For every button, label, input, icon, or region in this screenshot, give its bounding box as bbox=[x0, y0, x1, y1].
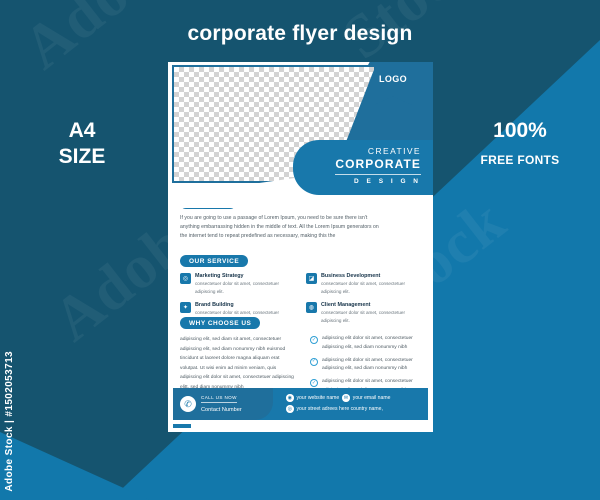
hero-line-corporate: CORPORATE bbox=[293, 157, 421, 171]
phone-icon: ✆ bbox=[180, 396, 196, 412]
hero-line-design: D E S I G N bbox=[293, 178, 421, 185]
chart-up-icon: ◪ bbox=[306, 273, 317, 284]
section-tag-our-service: OUR SERVICE bbox=[180, 255, 248, 267]
service-description: consectetuer dolor sit amet, consectetue… bbox=[321, 280, 422, 295]
service-title: Marketing Strategy bbox=[195, 273, 296, 279]
check-circle-icon: ✓ bbox=[310, 379, 318, 387]
contact-number-label: Contact Number bbox=[201, 407, 242, 413]
paper-size-label: SIZE bbox=[22, 144, 142, 170]
hero-divider-rule bbox=[335, 174, 421, 175]
service-title: Brand Building bbox=[195, 302, 296, 308]
flyer-artboard: LOGO CREATIVE CORPORATE D E S I G N ABOU… bbox=[168, 62, 433, 432]
list-item: ✓ adipiscing elit dolor sit amet, consec… bbox=[310, 335, 422, 352]
list-item: ✓ adipiscing elit dolor sit amet, consec… bbox=[310, 357, 422, 374]
envelope-icon: ✉ bbox=[342, 394, 350, 402]
footer-row: ◉ your website name ✉ your email name bbox=[286, 394, 422, 402]
why-checklist-text: adipiscing elit dolor sit amet, consecte… bbox=[322, 357, 422, 374]
check-circle-icon: ✓ bbox=[310, 336, 318, 344]
hero-title-pill: CREATIVE CORPORATE D E S I G N bbox=[293, 140, 433, 195]
target-icon: ◎ bbox=[180, 273, 191, 284]
logo-label: LOGO bbox=[379, 74, 407, 84]
section-tag-why-choose-us: WHY CHOOSE US bbox=[180, 317, 260, 329]
flyer-footer: ✆ CALL US NOW Contact Number ◉ your webs… bbox=[168, 388, 433, 432]
address-text: your street adrees here country name, bbox=[297, 406, 383, 412]
why-checklist-text: adipiscing elit dolor sit amet, consecte… bbox=[322, 335, 422, 352]
globe-icon: ◉ bbox=[286, 394, 294, 402]
screenshot-canvas: Adobe Stock Adobe Stock Adobe corporate … bbox=[0, 0, 600, 500]
check-circle-icon: ✓ bbox=[310, 358, 318, 366]
about-us-paragraph: If you are going to use a passage of Lor… bbox=[180, 214, 380, 241]
paper-size-value: A4 bbox=[22, 118, 142, 144]
hero-line-creative: CREATIVE bbox=[293, 146, 421, 156]
service-title: Client Management bbox=[321, 302, 422, 308]
footer-contact-details: ◉ your website name ✉ your email name ◎ … bbox=[286, 394, 422, 416]
why-paragraph: adipiscing elit, sed diam sit amet, cons… bbox=[180, 335, 298, 392]
service-description: consectetuer dolor sit amet, consectetue… bbox=[195, 280, 296, 295]
free-fonts-label: FREE FONTS bbox=[452, 153, 588, 167]
footer-row: ◎ your street adrees here country name, bbox=[286, 405, 422, 413]
service-item: ◪ Business Development consectetuer dolo… bbox=[306, 273, 422, 295]
caption-paper-size: A4 SIZE bbox=[22, 118, 142, 171]
footer-stripe bbox=[173, 424, 428, 428]
stock-id-label: Adobe Stock | #1502053713 bbox=[4, 351, 15, 492]
service-title: Business Development bbox=[321, 273, 422, 279]
free-fonts-percent: 100% bbox=[452, 118, 588, 144]
website-text: your website name bbox=[297, 395, 340, 401]
brand-icon: ✦ bbox=[180, 302, 191, 313]
user-circle-icon: ◍ bbox=[306, 302, 317, 313]
call-us-now-label: CALL US NOW bbox=[201, 395, 237, 403]
service-item: ◎ Marketing Strategy consectetuer dolor … bbox=[180, 273, 296, 295]
email-text: your email name bbox=[353, 395, 391, 401]
page-title: corporate flyer design bbox=[0, 22, 600, 46]
location-pin-icon: ◎ bbox=[286, 405, 294, 413]
section-our-service: OUR SERVICE ◎ Marketing Strategy consect… bbox=[180, 255, 422, 324]
caption-free-fonts: 100% FREE FONTS bbox=[452, 118, 588, 167]
footer-call-block: ✆ CALL US NOW Contact Number bbox=[173, 388, 273, 420]
